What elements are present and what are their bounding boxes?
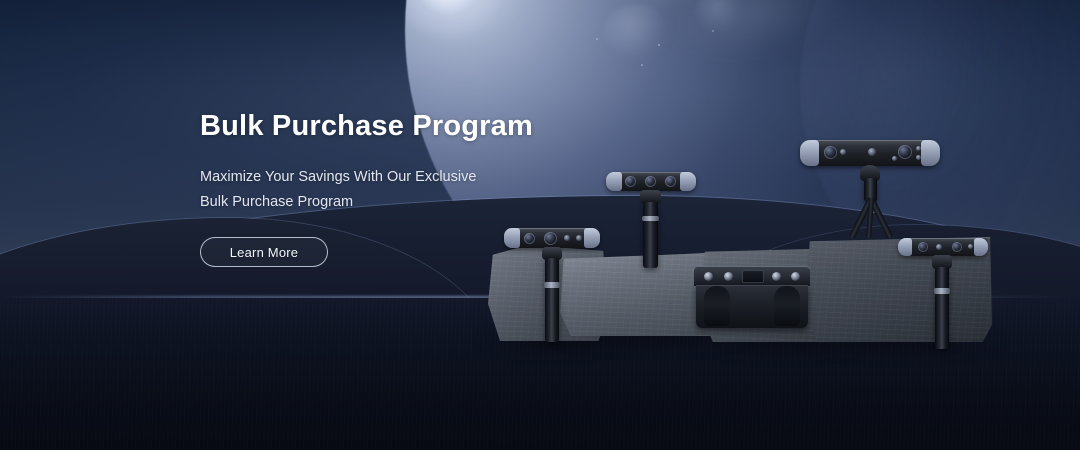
- scanner-handle: [935, 267, 949, 349]
- scanner-sensor-dot: [868, 148, 876, 156]
- handle-collar: [934, 288, 950, 294]
- subtitle-line-2: Bulk Purchase Program: [200, 194, 353, 210]
- scanner-lens: [704, 272, 713, 281]
- learn-more-button[interactable]: Learn More: [200, 237, 328, 267]
- handle-collar: [544, 282, 560, 288]
- hero-banner: Bulk Purchase Program Maximize Your Savi…: [0, 0, 1080, 450]
- product-tripod-scanner-right[interactable]: [800, 140, 940, 240]
- scanner-sensor-dot: [936, 244, 942, 250]
- scanner-end-cap: [921, 140, 940, 166]
- scanner-lens: [824, 146, 837, 159]
- scanner-grip: [774, 286, 800, 326]
- scanner-lens: [898, 145, 912, 159]
- scanner-grip: [704, 286, 730, 326]
- star: [712, 30, 714, 32]
- scanner-lens: [665, 176, 676, 187]
- scanner-display: [742, 270, 764, 283]
- scanner-end-cap: [680, 172, 696, 191]
- product-handheld-scanner-far-right[interactable]: [898, 238, 988, 350]
- scanner-lens: [724, 272, 733, 281]
- hero-subtitle: Maximize Your Savings With Our Exclusive…: [200, 165, 620, 215]
- scanner-end-cap: [974, 238, 988, 256]
- pole-collar: [642, 216, 659, 221]
- scanner-end-cap: [800, 140, 819, 166]
- scanner-lens: [645, 176, 656, 187]
- scanner-pole: [643, 202, 658, 268]
- scanner-sensor-dot: [916, 146, 921, 151]
- scanner-sensor-dot: [916, 155, 921, 160]
- scanner-lens: [791, 272, 800, 281]
- hero-copy: Bulk Purchase Program Maximize Your Savi…: [200, 110, 620, 267]
- scanner-sensor-dot: [892, 156, 897, 161]
- scanner-end-cap: [898, 238, 912, 256]
- scanner-lens: [625, 176, 636, 187]
- star: [658, 44, 660, 46]
- page-title: Bulk Purchase Program: [200, 110, 620, 143]
- product-desktop-scanner-box[interactable]: [694, 266, 810, 328]
- star: [596, 38, 598, 40]
- scanner-lens: [952, 242, 962, 252]
- scanner-lens: [918, 242, 928, 252]
- scanner-handle: [545, 258, 559, 342]
- scanner-sensor-dot: [968, 244, 973, 249]
- scanner-lens: [772, 272, 781, 281]
- scanner-bar: [898, 238, 988, 256]
- subtitle-line-1: Maximize Your Savings With Our Exclusive: [200, 169, 476, 185]
- scanner-bar: [800, 140, 940, 166]
- scanner-sensor-dot: [840, 149, 846, 155]
- scanner-top-panel: [694, 266, 810, 286]
- star: [641, 64, 643, 66]
